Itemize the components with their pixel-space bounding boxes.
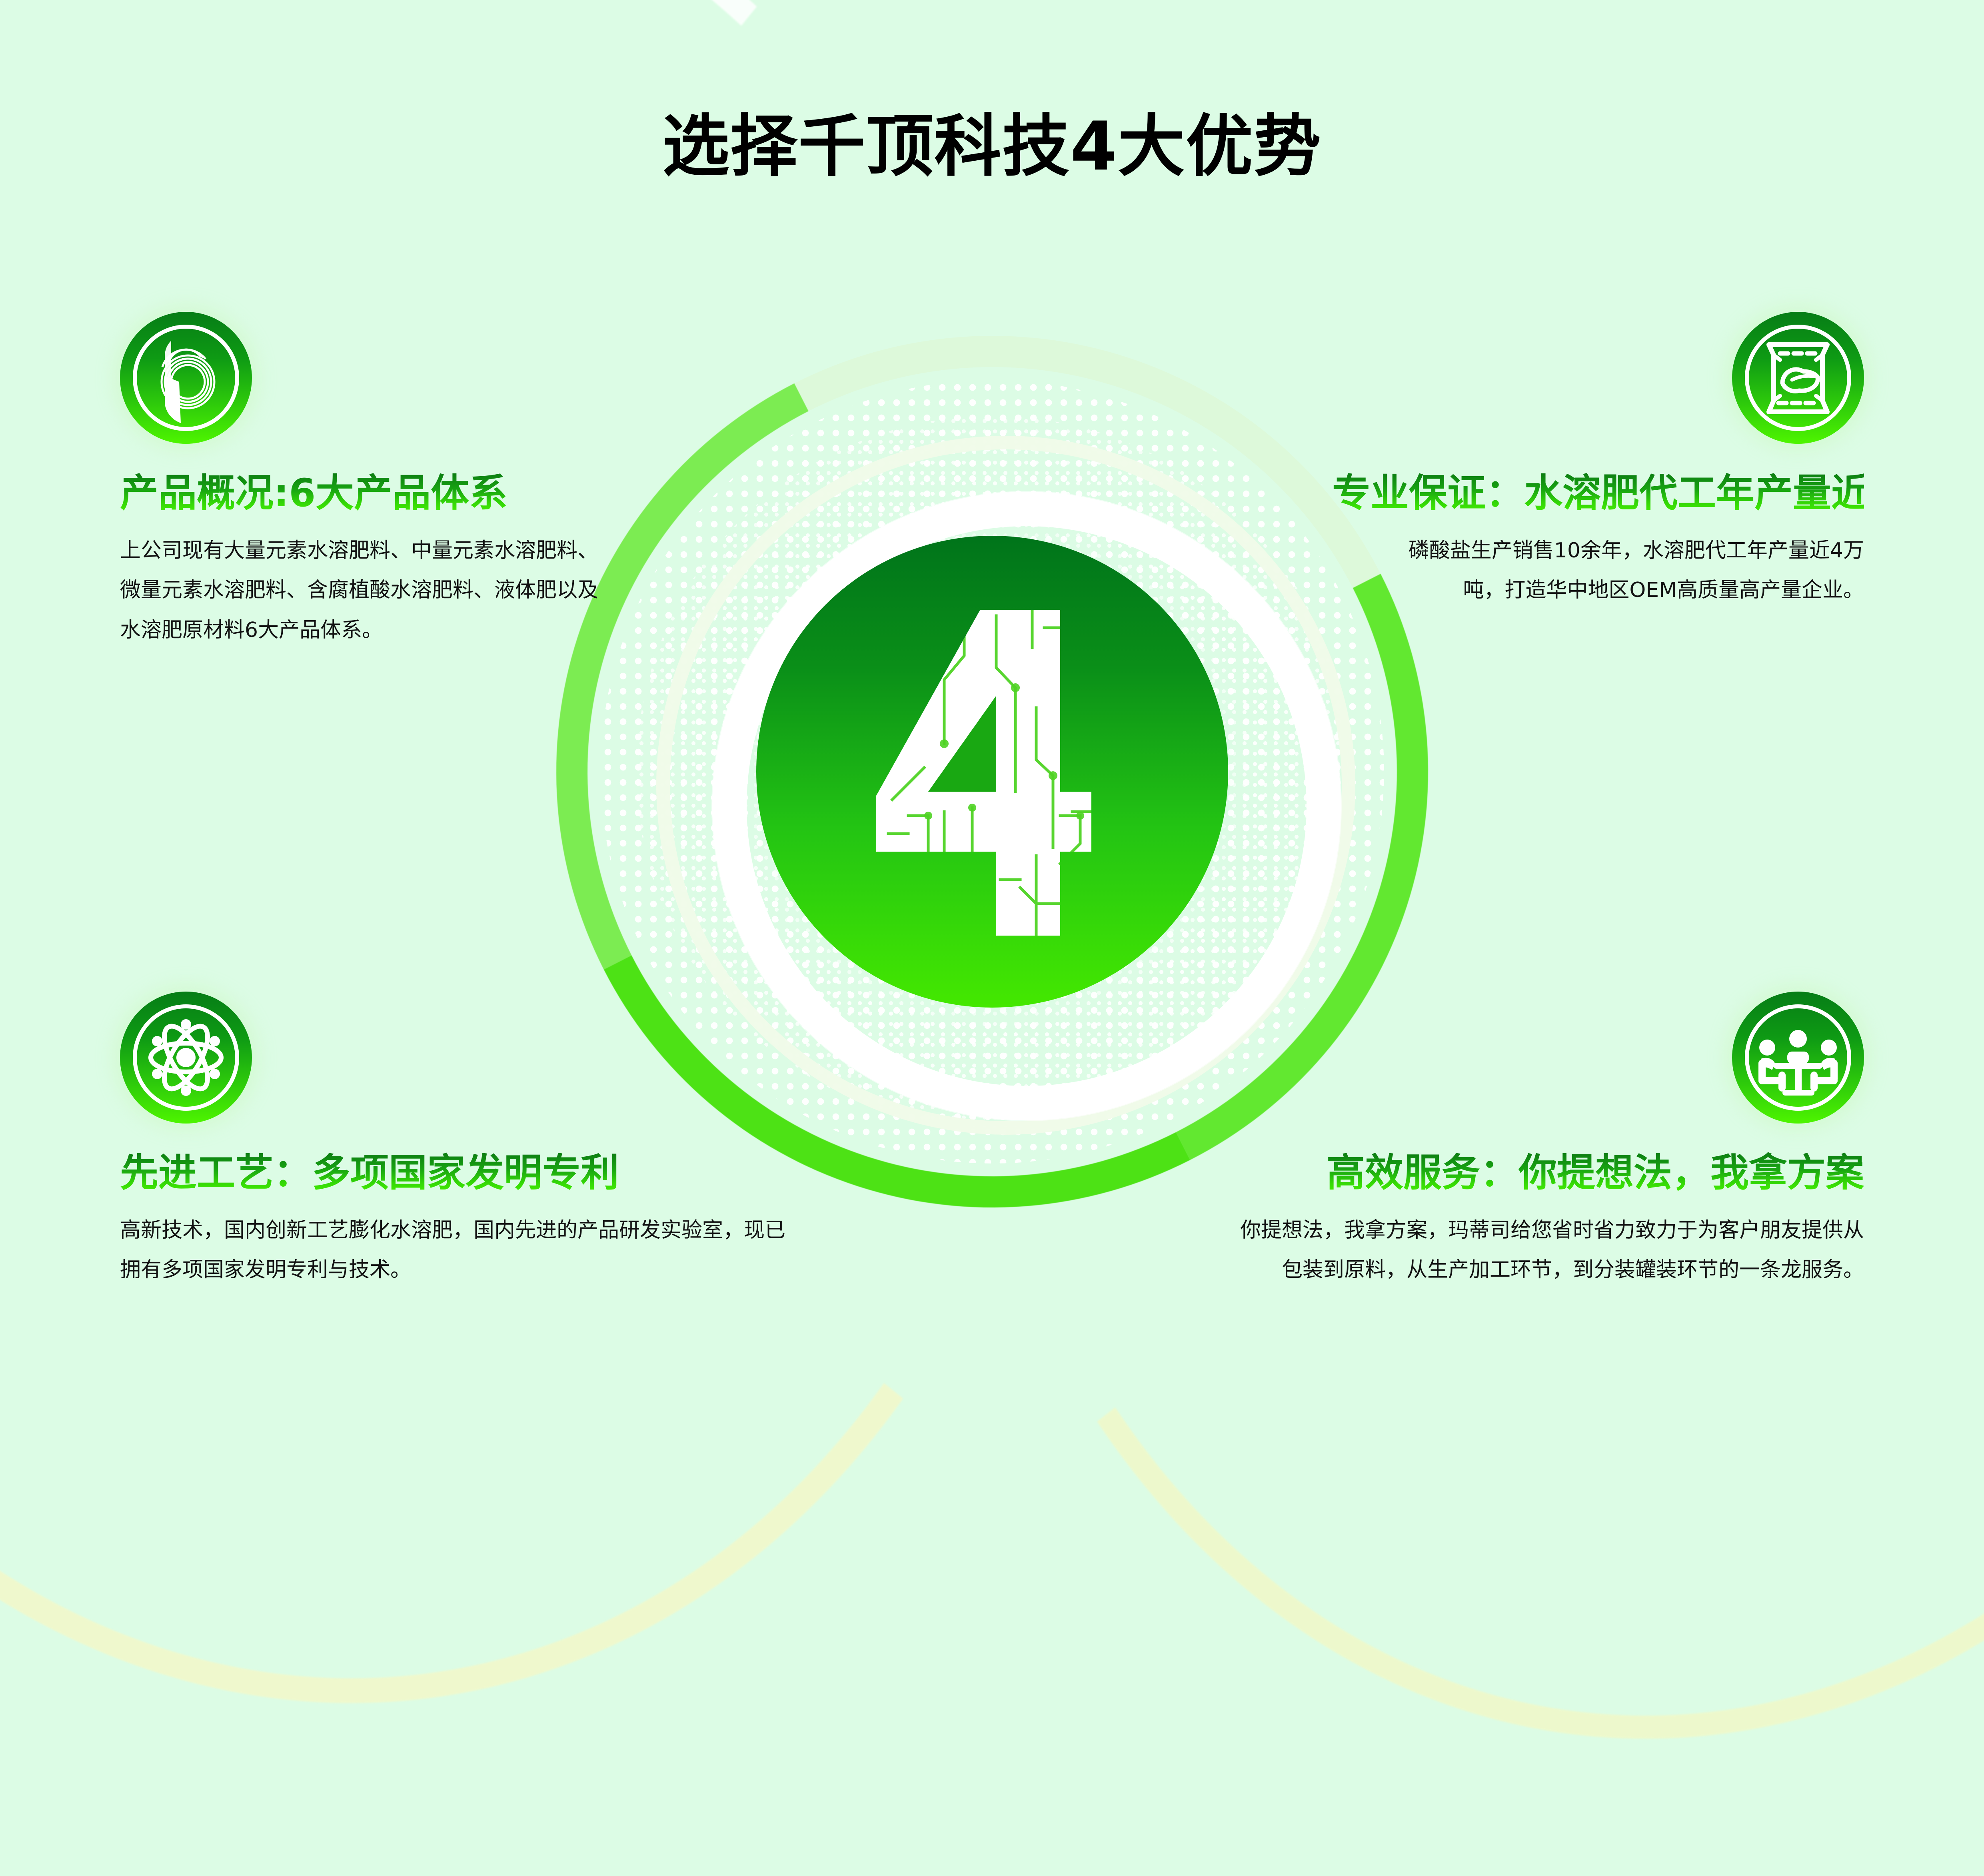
fertilizer-bag-icon <box>1732 312 1864 444</box>
number-six-circle-icon <box>120 312 252 444</box>
advantage-heading: 高效服务：你提想法，我拿方案 <box>1144 1152 1864 1195</box>
advantage-body: 你提想法，我拿方案，玛蒂司给您省时省力致力于为客户朋友提供从包装到原料，从生产加… <box>1224 1211 1864 1291</box>
advantage-block-bottom-left: 先进工艺：多项国家发明专利 高新技术，国内创新工艺膨化水溶肥，国内先进的产品研发… <box>120 992 824 1290</box>
advantage-block-bottom-right: 高效服务：你提想法，我拿方案 你提想法，我拿方案，玛蒂司给您省时省力致力于为客户… <box>1144 992 1864 1290</box>
infographic-canvas: 选择千顶科技4大优势 产品概况:6大产品体系 上公司现有大量元素水溶肥料、中量 <box>0 0 1984 1511</box>
advantage-heading: 产品概况:6大产品体系 <box>120 472 640 515</box>
meeting-people-icon <box>1732 992 1864 1124</box>
page-title: 选择千顶科技4大优势 <box>0 92 1984 189</box>
advantage-body: 上公司现有大量元素水溶肥料、中量元素水溶肥料、微量元素水溶肥料、含腐植酸水溶肥料… <box>120 531 612 651</box>
advantage-block-top-right: 专业保证：水溶肥代工年产量近4万吨 磷酸盐生产销售10余年，水溶肥代工年产量近4… <box>1332 312 1864 611</box>
center-number-disc <box>756 536 1228 1008</box>
advantage-heading: 专业保证：水溶肥代工年产量近4万吨 <box>1332 472 1864 515</box>
advantage-body: 磷酸盐生产销售10余年，水溶肥代工年产量近4万吨，打造华中地区OEM高质量高产量… <box>1396 531 1864 611</box>
advantage-block-top-left: 产品概况:6大产品体系 上公司现有大量元素水溶肥料、中量元素水溶肥料、微量元素水… <box>120 312 640 651</box>
advantage-body: 高新技术，国内创新工艺膨化水溶肥，国内先进的产品研发实验室，现已拥有多项国家发明… <box>120 1211 800 1291</box>
advantage-heading: 先进工艺：多项国家发明专利 <box>120 1152 824 1195</box>
atom-icon <box>120 992 252 1124</box>
